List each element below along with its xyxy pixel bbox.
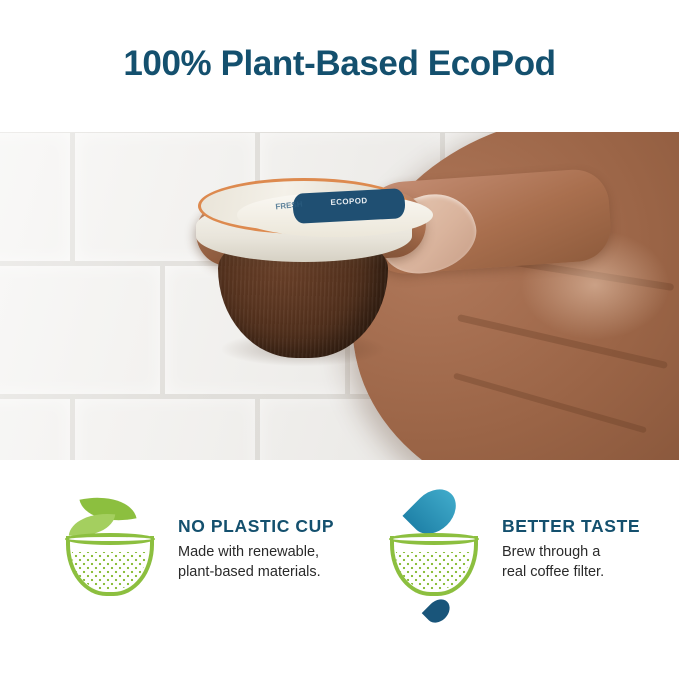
filter-basket-icon — [390, 536, 478, 598]
feature-description-line-2: plant-based materials. — [178, 563, 368, 583]
page-title: 100% Plant-Based EcoPod — [0, 44, 679, 84]
feature-text-block: NO PLASTIC CUP Made with renewable, plan… — [178, 516, 368, 582]
feature-better-taste: BETTER TASTE Brew through a real coffee … — [368, 460, 668, 679]
pod-lid: ECOPOD FRESH — [198, 178, 410, 234]
basket-rim — [65, 533, 155, 545]
feature-no-plastic-cup: NO PLASTIC CUP Made with renewable, plan… — [30, 460, 350, 679]
product-infographic: ECOPOD FRESH 100% Plant-Based EcoPod NO … — [0, 0, 679, 679]
feature-band: NO PLASTIC CUP Made with renewable, plan… — [0, 460, 679, 679]
feature-description-line-1: Brew through a — [502, 543, 679, 563]
basket-rim — [389, 533, 479, 545]
feature-description-line-2: real coffee filter. — [502, 563, 679, 583]
leaf-in-filter-basket-icon — [52, 482, 168, 612]
feature-title: NO PLASTIC CUP — [178, 516, 368, 537]
headline-band: 100% Plant-Based EcoPod — [0, 0, 679, 132]
coffee-pod: ECOPOD FRESH — [170, 172, 438, 362]
feature-description-line-1: Made with renewable, — [178, 543, 368, 563]
water-drop-through-filter-icon — [376, 482, 492, 612]
feature-title: BETTER TASTE — [502, 516, 679, 537]
filter-basket-icon — [66, 536, 154, 598]
coffee-drip-icon — [422, 595, 455, 628]
feature-text-block: BETTER TASTE Brew through a real coffee … — [502, 516, 679, 582]
